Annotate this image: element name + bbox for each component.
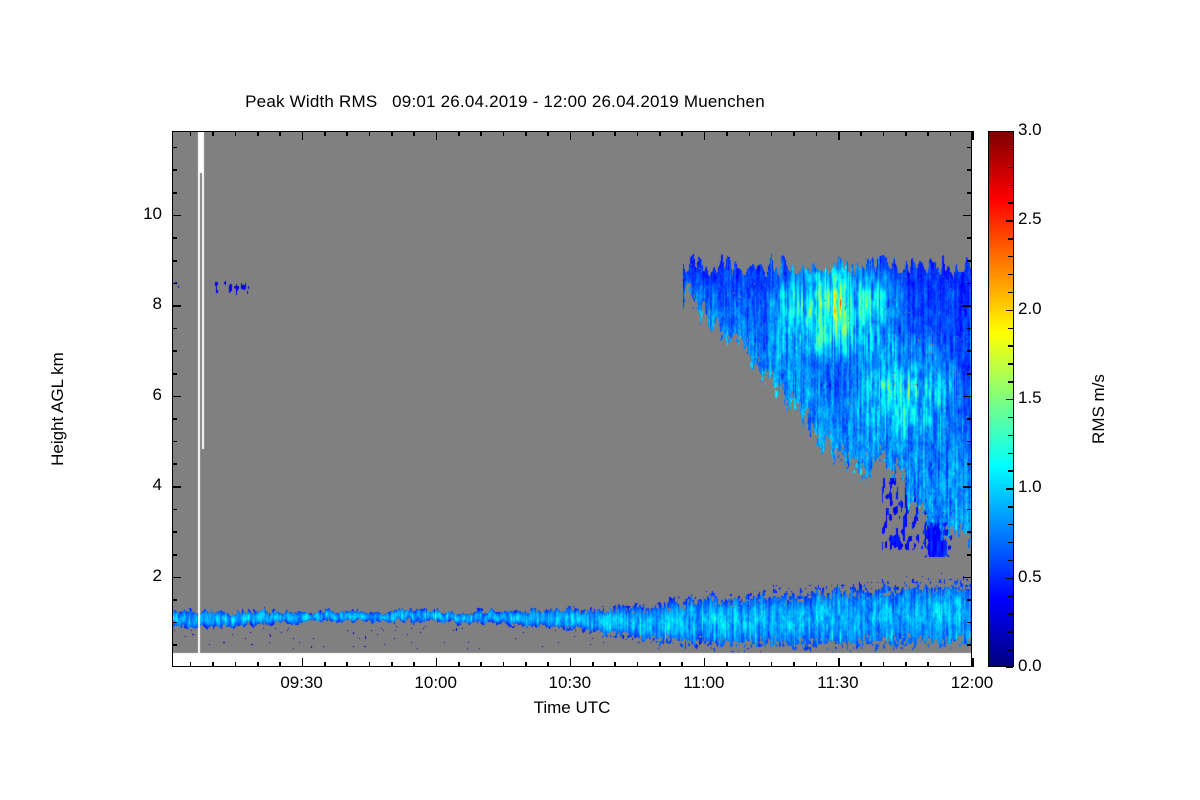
- x-tick-minor-top: [592, 131, 594, 136]
- y-tick-minor-right: [967, 283, 972, 285]
- x-tick-minor-top: [547, 131, 549, 136]
- colorbar-tick-minor: [1008, 274, 1013, 275]
- colorbar-tick-label: 2.5: [1018, 209, 1042, 229]
- x-tick-minor: [190, 662, 192, 667]
- x-tick-minor-top: [614, 131, 616, 136]
- colorbar-tick-major: [1006, 220, 1013, 221]
- x-tick-label: 11:30: [778, 673, 898, 693]
- x-tick-major: [570, 658, 572, 667]
- x-tick-minor: [212, 662, 214, 667]
- colorbar-tick-label: 1.5: [1018, 388, 1042, 408]
- colorbar-tick-minor: [1008, 345, 1013, 346]
- colorbar-tick-minor: [1008, 328, 1013, 329]
- y-tick-minor-right: [967, 373, 972, 375]
- colorbar-tick-minor: [1008, 238, 1013, 239]
- x-tick-minor-top: [816, 131, 818, 136]
- x-tick-minor-top: [793, 131, 795, 136]
- x-tick-minor-top: [324, 131, 326, 136]
- colorbar-title: RMS m/s: [1089, 309, 1109, 509]
- x-tick-minor-top: [480, 131, 482, 136]
- y-tick-minor: [172, 283, 177, 285]
- colorbar-tick-major: [1006, 131, 1013, 132]
- x-tick-major-top: [570, 131, 572, 140]
- y-tick-minor-right: [967, 260, 972, 262]
- x-tick-label: 10:30: [510, 673, 630, 693]
- x-tick-minor: [324, 662, 326, 667]
- colorbar-tick-minor: [1008, 381, 1013, 382]
- y-tick-label: 8: [102, 294, 162, 314]
- y-tick-label: 6: [102, 385, 162, 405]
- colorbar-tick-minor: [1008, 435, 1013, 436]
- x-tick-major-top: [704, 131, 706, 140]
- x-tick-major-top: [972, 131, 974, 140]
- x-tick-major: [302, 658, 304, 667]
- x-tick-label: 12:00: [912, 673, 1032, 693]
- colorbar-tick-label: 0.0: [1018, 656, 1042, 676]
- y-tick-minor-right: [967, 237, 972, 239]
- y-tick-minor-right: [967, 147, 972, 149]
- x-tick-minor: [614, 662, 616, 667]
- y-tick-minor-right: [967, 622, 972, 624]
- heatmap-image: [173, 132, 972, 667]
- x-tick-major: [972, 658, 974, 667]
- y-axis-title: Height AGL km: [48, 299, 68, 519]
- x-tick-minor: [458, 662, 460, 667]
- colorbar-tick-major: [1006, 578, 1013, 579]
- colorbar-tick-label: 1.0: [1018, 477, 1042, 497]
- x-tick-minor: [749, 662, 751, 667]
- y-tick-major: [172, 486, 181, 488]
- x-tick-minor-top: [212, 131, 214, 136]
- colorbar-tick-minor: [1008, 542, 1013, 543]
- y-tick-minor-right: [967, 169, 972, 171]
- plot-area[interactable]: [172, 131, 972, 667]
- x-tick-minor-top: [190, 131, 192, 136]
- y-tick-minor: [172, 418, 177, 420]
- x-tick-major: [436, 658, 438, 667]
- y-tick-major: [172, 215, 181, 217]
- page-title: Peak Width RMS 09:01 26.04.2019 - 12:00 …: [0, 92, 1010, 112]
- x-tick-minor-top: [771, 131, 773, 136]
- y-tick-label: 2: [102, 566, 162, 586]
- x-tick-minor-top: [860, 131, 862, 136]
- x-tick-minor-top: [525, 131, 527, 136]
- y-tick-minor-right: [967, 599, 972, 601]
- x-tick-label: 09:30: [242, 673, 362, 693]
- y-tick-minor: [172, 147, 177, 149]
- y-tick-minor-right: [967, 192, 972, 194]
- x-tick-minor: [257, 662, 259, 667]
- x-tick-minor-top: [235, 131, 237, 136]
- colorbar-tick-minor: [1008, 149, 1013, 150]
- y-tick-minor-right: [967, 554, 972, 556]
- y-tick-major-right: [963, 396, 972, 398]
- y-tick-label: 4: [102, 475, 162, 495]
- x-tick-major-top: [436, 131, 438, 140]
- y-tick-label: 10: [102, 204, 162, 224]
- colorbar-tick-minor: [1008, 613, 1013, 614]
- x-tick-minor: [592, 662, 594, 667]
- y-tick-minor: [172, 463, 177, 465]
- y-tick-minor: [172, 237, 177, 239]
- y-tick-minor: [172, 260, 177, 262]
- colorbar-tick-minor: [1008, 292, 1013, 293]
- x-tick-label: 10:00: [376, 673, 496, 693]
- y-tick-minor-right: [967, 463, 972, 465]
- colorbar-tick-minor: [1008, 185, 1013, 186]
- y-tick-major-right: [963, 215, 972, 217]
- x-tick-minor-top: [346, 131, 348, 136]
- x-tick-minor: [793, 662, 795, 667]
- y-tick-minor-right: [967, 418, 972, 420]
- x-tick-minor-top: [391, 131, 393, 136]
- x-tick-minor-top: [659, 131, 661, 136]
- x-tick-minor: [391, 662, 393, 667]
- x-tick-minor: [369, 662, 371, 667]
- x-tick-minor-top: [637, 131, 639, 136]
- y-tick-major: [172, 396, 181, 398]
- x-tick-minor-top: [503, 131, 505, 136]
- colorbar-tick-minor: [1008, 256, 1013, 257]
- colorbar-tick-major: [1006, 667, 1013, 668]
- y-tick-minor: [172, 192, 177, 194]
- y-tick-minor-right: [967, 531, 972, 533]
- colorbar-tick-minor: [1008, 649, 1013, 650]
- x-tick-minor: [525, 662, 527, 667]
- y-tick-minor: [172, 328, 177, 330]
- x-tick-minor-top: [413, 131, 415, 136]
- x-tick-minor-top: [257, 131, 259, 136]
- y-tick-minor: [172, 373, 177, 375]
- x-tick-minor: [927, 662, 929, 667]
- y-tick-minor-right: [967, 350, 972, 352]
- colorbar-tick-minor: [1008, 506, 1013, 507]
- x-tick-minor-top: [749, 131, 751, 136]
- x-tick-major: [704, 658, 706, 667]
- x-tick-minor-top: [458, 131, 460, 136]
- y-tick-major: [172, 577, 181, 579]
- y-tick-major-right: [963, 305, 972, 307]
- x-tick-minor-top: [369, 131, 371, 136]
- y-tick-major: [172, 305, 181, 307]
- y-tick-minor: [172, 554, 177, 556]
- x-tick-minor: [413, 662, 415, 667]
- x-tick-minor-top: [905, 131, 907, 136]
- x-tick-minor: [950, 662, 952, 667]
- x-tick-minor: [637, 662, 639, 667]
- x-tick-minor: [659, 662, 661, 667]
- y-tick-minor: [172, 509, 177, 511]
- y-tick-minor: [172, 531, 177, 533]
- x-axis-title: Time UTC: [172, 698, 972, 718]
- x-tick-major-top: [302, 131, 304, 140]
- colorbar-tick-major: [1006, 488, 1013, 489]
- x-tick-minor: [503, 662, 505, 667]
- x-tick-minor-top: [883, 131, 885, 136]
- x-tick-minor: [771, 662, 773, 667]
- x-tick-minor-top: [681, 131, 683, 136]
- y-tick-minor-right: [967, 644, 972, 646]
- x-tick-minor: [346, 662, 348, 667]
- x-tick-minor: [681, 662, 683, 667]
- x-tick-minor: [279, 662, 281, 667]
- figure-canvas: Peak Width RMS 09:01 26.04.2019 - 12:00 …: [0, 0, 1200, 800]
- colorbar-tick-minor: [1008, 631, 1013, 632]
- x-tick-minor-top: [279, 131, 281, 136]
- x-tick-minor-top: [950, 131, 952, 136]
- x-tick-major-top: [838, 131, 840, 140]
- x-tick-major: [838, 658, 840, 667]
- y-tick-minor: [172, 350, 177, 352]
- colorbar-tick-label: 3.0: [1018, 120, 1042, 140]
- colorbar-tick-minor: [1008, 470, 1013, 471]
- x-tick-minor: [883, 662, 885, 667]
- x-tick-minor: [547, 662, 549, 667]
- x-tick-minor: [480, 662, 482, 667]
- colorbar-tick-minor: [1008, 363, 1013, 364]
- x-tick-minor: [816, 662, 818, 667]
- x-tick-minor: [235, 662, 237, 667]
- y-tick-minor: [172, 169, 177, 171]
- x-tick-minor: [905, 662, 907, 667]
- colorbar-tick-major: [1006, 310, 1013, 311]
- colorbar-tick-major: [1006, 399, 1013, 400]
- x-tick-label: 11:00: [644, 673, 764, 693]
- y-tick-minor-right: [967, 328, 972, 330]
- y-tick-minor: [172, 622, 177, 624]
- y-tick-minor-right: [967, 509, 972, 511]
- colorbar-tick-label: 0.5: [1018, 567, 1042, 587]
- x-tick-minor-top: [726, 131, 728, 136]
- y-tick-minor: [172, 644, 177, 646]
- colorbar-tick-minor: [1008, 202, 1013, 203]
- colorbar-tick-minor: [1008, 167, 1013, 168]
- x-tick-minor-top: [927, 131, 929, 136]
- colorbar-tick-label: 2.0: [1018, 299, 1042, 319]
- y-tick-minor: [172, 599, 177, 601]
- x-tick-minor: [860, 662, 862, 667]
- colorbar-tick-minor: [1008, 560, 1013, 561]
- x-tick-minor: [726, 662, 728, 667]
- colorbar-tick-minor: [1008, 524, 1013, 525]
- y-tick-minor-right: [967, 441, 972, 443]
- colorbar-tick-minor: [1008, 453, 1013, 454]
- y-tick-major-right: [963, 486, 972, 488]
- colorbar-tick-minor: [1008, 596, 1013, 597]
- y-tick-minor: [172, 441, 177, 443]
- colorbar-tick-minor: [1008, 417, 1013, 418]
- y-tick-major-right: [963, 577, 972, 579]
